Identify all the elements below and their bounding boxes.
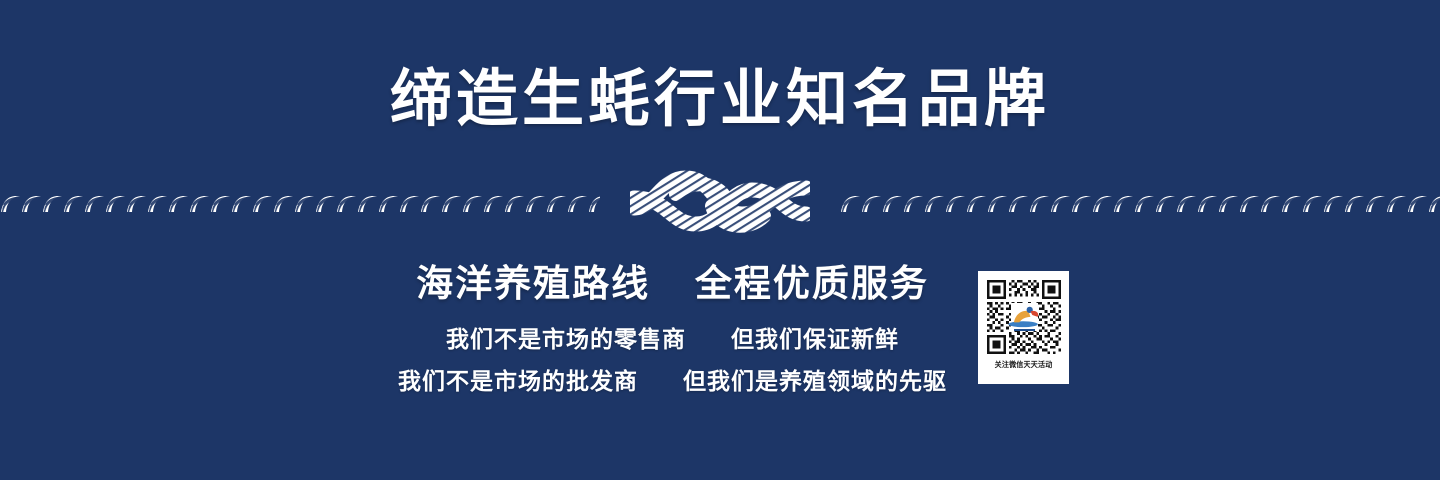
qr-caption: 关注微信天天活动 <box>995 360 1053 370</box>
qr-panel[interactable]: 关注微信天天活动 <box>978 271 1069 384</box>
rope-segment-right <box>840 192 1440 218</box>
rope-segment-left <box>0 192 600 218</box>
qr-code-image[interactable] <box>984 277 1064 357</box>
rope-divider <box>0 188 1440 222</box>
subtitle: 海洋养殖路线 全程优质服务 <box>0 263 1345 304</box>
qr-center-logo <box>1011 303 1038 331</box>
page-title: 缔造生蚝行业知名品牌 <box>0 68 1440 130</box>
body-line: 我们不是市场的批发商 但我们是养殖领域的先驱 <box>0 362 1345 396</box>
body-line: 我们不是市场的零售商 但我们保证新鲜 <box>0 320 1345 354</box>
qr-logo-mark-icon <box>984 304 1064 328</box>
qr-logo-band <box>1014 329 1035 331</box>
rope-knot-icon <box>630 164 810 246</box>
promo-banner: 缔造生蚝行业知名品牌 海洋养殖路线 全程优质服务 我们 <box>0 0 1440 480</box>
